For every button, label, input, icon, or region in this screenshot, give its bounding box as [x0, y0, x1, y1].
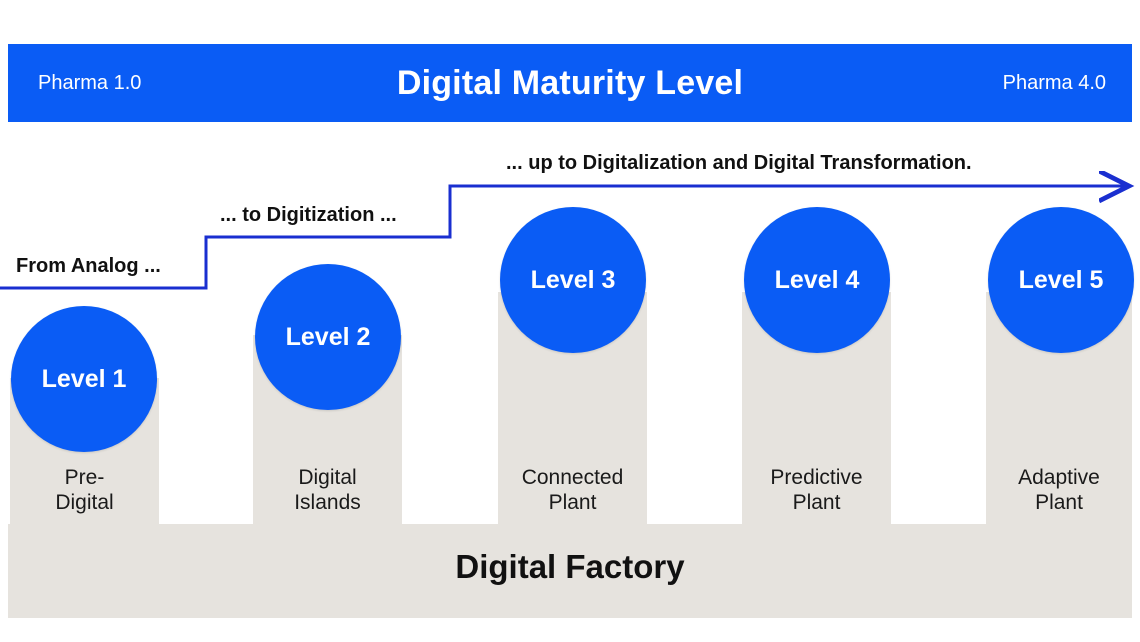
level-badge-4[interactable]: Level 4 — [744, 207, 890, 353]
banner-right-label: Pharma 4.0 — [1003, 44, 1106, 122]
annotation-up-to-digitalization: ... up to Digitalization and Digital Tra… — [502, 152, 976, 175]
page-title: Digital Maturity Level — [8, 44, 1132, 122]
bar-caption-5: Adaptive Plant — [978, 466, 1140, 516]
bar-caption-1: Pre- Digital — [10, 466, 159, 516]
annotation-to-digitization: ... to Digitization ... — [216, 204, 401, 227]
bar-caption-4: Predictive Plant — [734, 466, 899, 516]
diagram-canvas: Pharma 1.0 Digital Maturity Level Pharma… — [0, 0, 1140, 642]
level-badge-1[interactable]: Level 1 — [11, 306, 157, 452]
bar-caption-3: Connected Plant — [490, 466, 655, 516]
annotation-from-analog: From Analog ... — [12, 255, 165, 278]
footer-label: Digital Factory — [8, 548, 1132, 586]
level-badge-2[interactable]: Level 2 — [255, 264, 401, 410]
header-banner: Pharma 1.0 Digital Maturity Level Pharma… — [8, 44, 1132, 122]
level-badge-5[interactable]: Level 5 — [988, 207, 1134, 353]
level-badge-3[interactable]: Level 3 — [500, 207, 646, 353]
bar-caption-2: Digital Islands — [253, 466, 402, 516]
